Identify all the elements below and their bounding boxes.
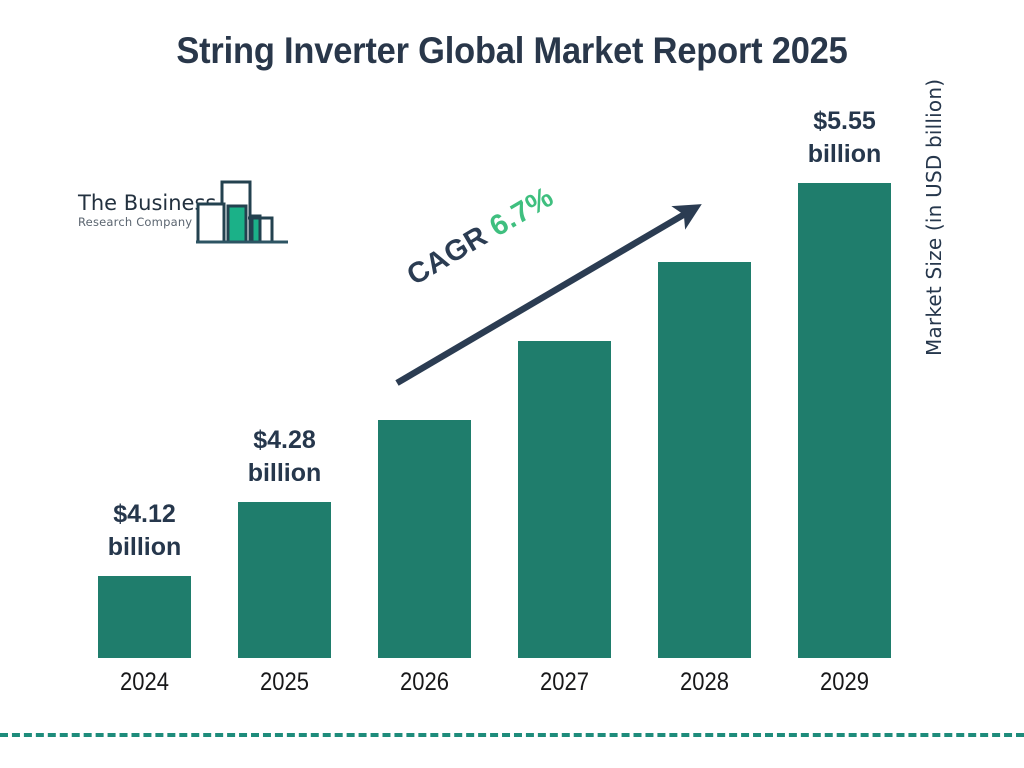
bar-value-label-2024-line2: billion xyxy=(68,531,221,564)
cagr-value: 6.7% xyxy=(484,181,559,243)
bar-2028 xyxy=(658,262,751,658)
bar-2026 xyxy=(378,420,471,658)
x-tick-2025: 2025 xyxy=(222,668,348,697)
y-axis-title: Market Size (in USD billion) xyxy=(922,26,946,356)
bar-2029 xyxy=(798,183,891,658)
bar-value-label-2029-line1: $5.55 xyxy=(768,105,921,138)
bar-value-label-2025-line2: billion xyxy=(208,457,361,490)
bar-2024 xyxy=(98,576,191,658)
footer-divider xyxy=(0,733,1024,737)
bar-value-label-2024-line1: $4.12 xyxy=(68,498,221,531)
bar-chart: $4.12 billion $4.28 billion $5.55 billio… xyxy=(0,0,1024,768)
bar-value-label-2025-line1: $4.28 xyxy=(208,424,361,457)
bar-value-label-2029: $5.55 billion xyxy=(768,105,921,171)
x-tick-2024: 2024 xyxy=(82,668,208,697)
bar-2027 xyxy=(518,341,611,658)
bar-2025 xyxy=(238,502,331,658)
bar-value-label-2029-line2: billion xyxy=(768,138,921,171)
x-tick-2027: 2027 xyxy=(502,668,628,697)
bar-value-label-2024: $4.12 billion xyxy=(68,498,221,564)
cagr-label: CAGR xyxy=(402,220,494,292)
x-tick-2028: 2028 xyxy=(642,668,768,697)
cagr-annotation: CAGR 6.7% xyxy=(402,181,560,293)
x-tick-2029: 2029 xyxy=(782,668,908,697)
x-tick-2026: 2026 xyxy=(362,668,488,697)
bar-value-label-2025: $4.28 billion xyxy=(208,424,361,490)
